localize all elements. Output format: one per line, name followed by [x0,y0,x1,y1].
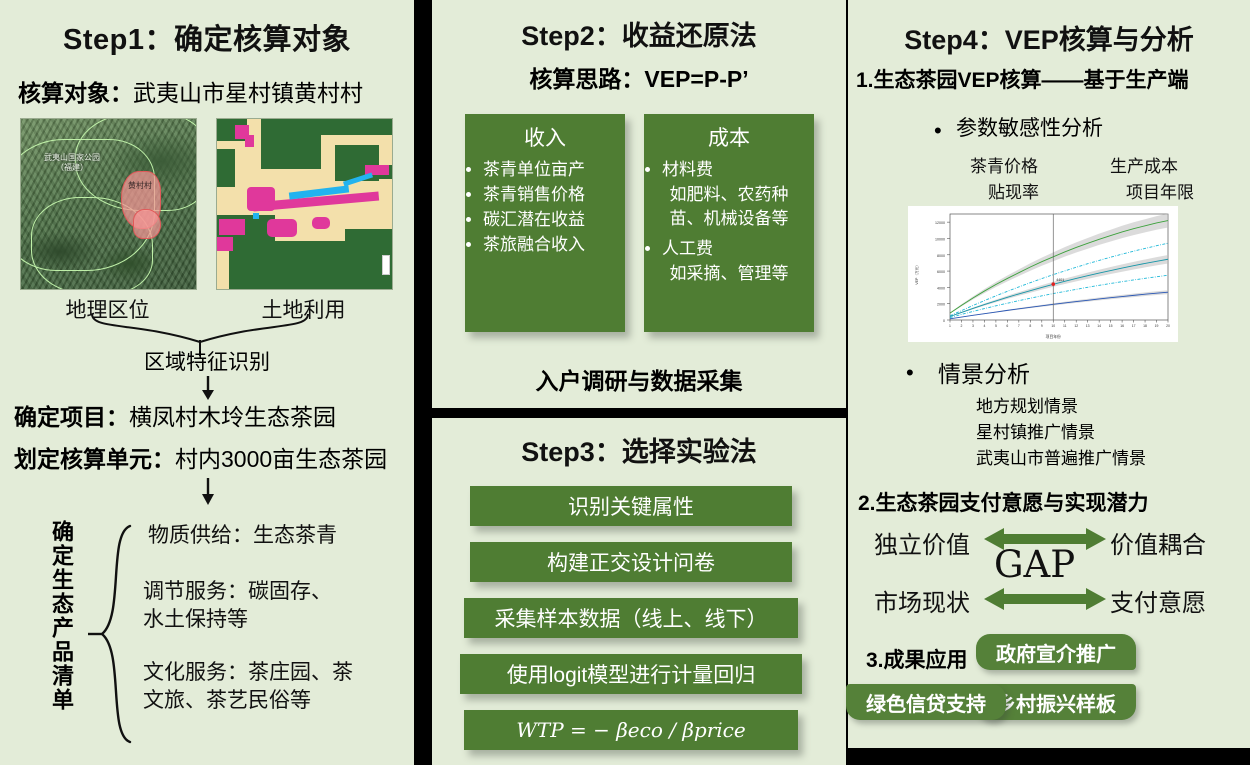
step3-bar-formula[interactable]: WTP = − βeco / βprice [464,710,798,750]
step3-title: Step3：选择实验法 [432,430,846,469]
list-item: 材料费 [662,158,810,183]
gap-left-top: 独立价值 [874,525,970,560]
svg-text:VEP（万元）: VEP（万元） [914,263,919,285]
svg-text:3: 3 [972,324,974,328]
list-item: 地方规划情景 [976,394,1146,420]
svg-text:9: 9 [1041,324,1043,328]
ecological-product-list-label: 确定生态产品清单 [48,520,74,712]
accounting-formula: 核算思路：VEP=P-P’ [432,60,846,94]
svg-text:12000: 12000 [935,221,945,225]
step3-bar-4[interactable]: 使用logit模型进行计量回归 [460,654,802,694]
map-land-use [216,118,393,290]
arrow-down-icon [198,478,218,506]
param-tea-price: 茶青价格 [970,152,1038,177]
service-item-regulating: 调节服务：碳固存、 水土保持等 [143,578,332,634]
svg-text:2000: 2000 [937,303,945,307]
svg-text:6: 6 [1006,324,1008,328]
svg-text:15: 15 [1109,324,1113,328]
step3-bar-1[interactable]: 识别关键属性 [470,486,792,526]
panel-step3: Step3：选择实验法 识别关键属性 构建正交设计问卷 采集样本数据（线上、线下… [432,418,846,765]
step3-bar-3[interactable]: 采集样本数据（线上、线下） [464,598,798,638]
step2-title: Step2：收益还原法 [432,14,846,53]
arrow-down-icon [198,376,218,400]
svg-text:13: 13 [1086,324,1090,328]
step4-section-2-heading: 2.生态茶园支付意愿与实现潜力 [858,487,1250,517]
panel-step1: Step1：确定核算对象 核算对象：武夷山市星村镇黄村村 武夷山国家公园 （福建… [0,0,414,765]
income-list: 茶青单位亩产 茶青销售价格 碳汇潜在收益 茶旅融合收入 [465,158,625,258]
service-item-cultural: 文化服务：茶庄园、茶 文旅、茶艺民俗等 [143,659,353,715]
gap-left-bottom: 市场现状 [874,583,970,618]
cost-note-materials-a: 如肥料、农药种 [644,183,814,207]
project-label: 确定项目： [14,404,129,430]
village-name-label: 黄村村 [117,181,163,191]
unit-label: 划定核算单元： [14,446,175,472]
svg-text:8000: 8000 [937,254,945,258]
gap-right-bottom: 支付意愿 [1110,583,1206,618]
step4-section-1-heading: 1.生态茶园VEP核算——基于生产端 [856,68,1250,94]
map-scale-marker [382,255,390,275]
list-item: 碳汇潜在收益 [483,208,621,233]
cost-list-labor: 人工费 [644,237,814,262]
forest-class [261,119,321,169]
step1-title: Step1：确定核算对象 [0,16,414,58]
built-up-class [245,135,254,147]
built-up-class [267,219,297,237]
panel-step4: Step4：VEP核算与分析 1.生态茶园VEP核算——基于生产端 • 参数敏感… [848,0,1250,748]
village-polygon [133,209,161,239]
panel-step2: Step2：收益还原法 核算思路：VEP=P-P’ 收入 茶青单位亩产 茶青销售… [432,0,846,408]
scenario-analysis-label: 情景分析 [938,355,1030,389]
svg-text:6000: 6000 [937,270,945,274]
project-value: 横凤村木坽生态茶园 [129,404,336,430]
svg-text:18: 18 [1143,324,1147,328]
svg-text:5: 5 [995,324,997,328]
cost-list-materials: 材料费 [644,158,814,183]
accounting-object-value: 武夷山市星村镇黄村村 [133,80,363,106]
built-up-class [219,219,245,235]
step4-title: Step4：VEP核算与分析 [848,18,1250,57]
slide-canvas: Step1：确定核算对象 核算对象：武夷山市星村镇黄村村 武夷山国家公园 （福建… [0,0,1250,765]
svg-text:4401: 4401 [1056,278,1064,282]
gap-right-top: 价值耦合 [1110,525,1206,560]
built-up-class [217,237,233,251]
built-up-class [312,217,330,229]
park-name-label: 武夷山国家公园 （福建） [29,153,115,173]
svg-text:7: 7 [1018,324,1020,328]
accounting-object-row: 核算对象：武夷山市星村镇黄村村 [18,74,363,108]
forest-class [217,149,235,187]
list-item: 茶旅融合收入 [483,233,621,258]
svg-text:4000: 4000 [937,286,945,290]
svg-text:10000: 10000 [935,237,945,241]
step4-section-3-heading: 3.成果应用 [866,644,968,674]
scenario-list: 地方规划情景 星村镇推广情景 武夷山市普遍推广情景 [976,394,1146,472]
accounting-object-label: 核算对象： [18,80,133,106]
sensitivity-analysis-label: 参数敏感性分析 [956,112,1103,142]
svg-text:0: 0 [943,319,945,323]
list-item: 人工费 [662,237,810,262]
sensitivity-chart: 0200040006000800010000120001234567891011… [908,206,1178,342]
param-production-cost: 生产成本 [1110,152,1178,177]
forest-class [317,119,392,135]
cost-note-labor: 如采摘、管理等 [644,262,814,286]
list-item: 武夷山市普遍推广情景 [976,446,1146,472]
svg-text:4: 4 [983,324,985,328]
svg-text:8: 8 [1029,324,1031,328]
list-item: 星村镇推广情景 [976,420,1146,446]
list-item: 茶青销售价格 [483,183,621,208]
project-row: 确定项目：横凤村木坽生态茶园 [14,398,336,432]
step3-bar-2[interactable]: 构建正交设计问卷 [470,542,792,582]
svg-text:10: 10 [1051,324,1055,328]
svg-text:项目年份: 项目年份 [1046,334,1061,339]
double-arrow-icon [984,586,1106,612]
chart-svg: 0200040006000800010000120001234567891011… [908,206,1178,342]
unit-row: 划定核算单元：村内3000亩生态茶园 [14,440,387,474]
region-feature-label: 区域特征识别 [0,346,414,376]
chip-green-credit[interactable]: 绿色信贷支持 [846,684,1006,720]
param-project-horizon: 项目年限 [1126,178,1194,203]
svg-text:16: 16 [1120,324,1124,328]
svg-text:14: 14 [1097,324,1101,328]
svg-text:12: 12 [1074,324,1078,328]
chip-government-promotion[interactable]: 政府宣介推广 [976,634,1136,670]
bullet-dot-icon: • [934,118,942,144]
cost-note-materials-b: 苗、机械设备等 [644,207,814,231]
bullet-dot-icon: • [906,360,914,386]
svg-text:17: 17 [1132,324,1136,328]
water-class [253,213,259,219]
curly-brace-icon [86,520,146,750]
forest-class [229,241,354,289]
map-geographic-location: 武夷山国家公园 （福建） 黄村村 [20,118,197,290]
cost-heading: 成本 [644,114,814,152]
income-box: 收入 茶青单位亩产 茶青销售价格 碳汇潜在收益 茶旅融合收入 [465,114,625,332]
svg-text:2: 2 [961,324,963,328]
step2-footer: 入户调研与数据采集 [432,362,846,396]
list-item: 茶青单位亩产 [483,158,621,183]
service-item-supply: 物质供给：生态茶青 [148,522,337,550]
gap-label: GAP [994,543,1075,586]
cost-box: 成本 材料费 如肥料、农药种 苗、机械设备等 人工费 如采摘、管理等 [644,114,814,332]
unit-value: 村内3000亩生态茶园 [175,446,387,472]
income-heading: 收入 [465,114,625,152]
svg-text:20: 20 [1166,324,1170,328]
svg-text:19: 19 [1155,324,1159,328]
svg-text:1: 1 [949,324,951,328]
param-discount-rate: 贴现率 [988,178,1039,203]
svg-text:11: 11 [1063,324,1067,328]
